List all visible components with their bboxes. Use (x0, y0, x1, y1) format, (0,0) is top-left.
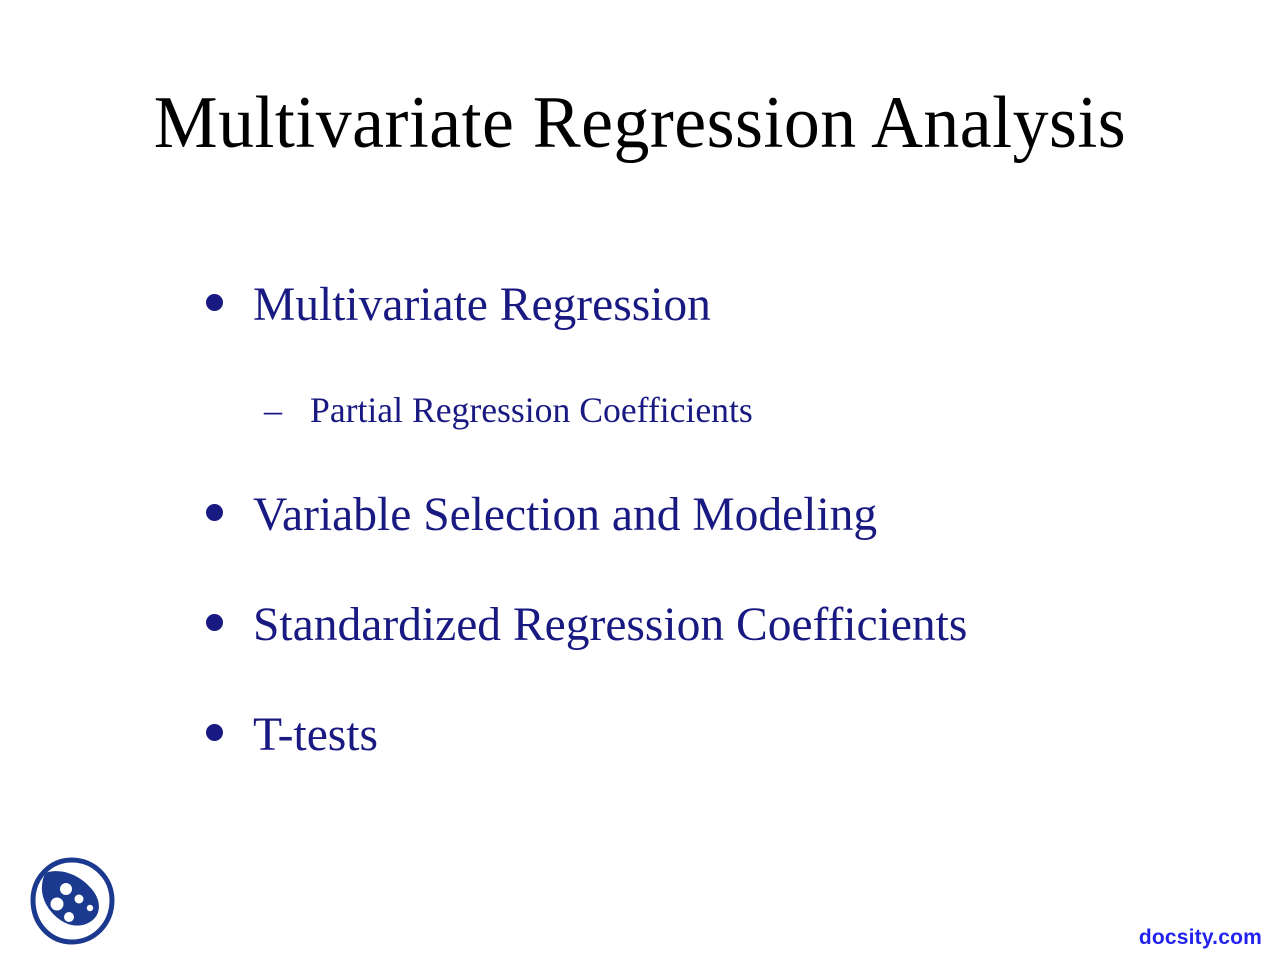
page-title: Multivariate Regression Analysis (19, 78, 1261, 168)
bullet-list: Multivariate Regression – Partial Regres… (196, 250, 1196, 790)
bullet-marker-icon (196, 570, 253, 680)
list-item-label: Variable Selection and Modeling (253, 460, 877, 570)
bullet-marker-icon (196, 460, 253, 570)
list-item: – Partial Regression Coefficients (196, 360, 1196, 460)
list-item-label: T-tests (253, 680, 378, 790)
list-item-label: Partial Regression Coefficients (310, 360, 753, 460)
slide-canvas: Multivariate Regression Analysis Multiva… (0, 0, 1280, 960)
list-item-label: Standardized Regression Coefficients (253, 570, 967, 680)
dash-marker-icon: – (196, 360, 310, 460)
docsity-watermark: docsity.com (1139, 926, 1262, 950)
list-item: Multivariate Regression (196, 250, 1196, 360)
list-item: Variable Selection and Modeling (196, 460, 1196, 570)
bullet-marker-icon (196, 250, 253, 360)
docsity-logo-icon (26, 854, 118, 950)
list-item: T-tests (196, 680, 1196, 790)
bullet-marker-icon (196, 680, 253, 790)
list-item: Standardized Regression Coefficients (196, 570, 1196, 680)
list-item-label: Multivariate Regression (253, 250, 711, 360)
